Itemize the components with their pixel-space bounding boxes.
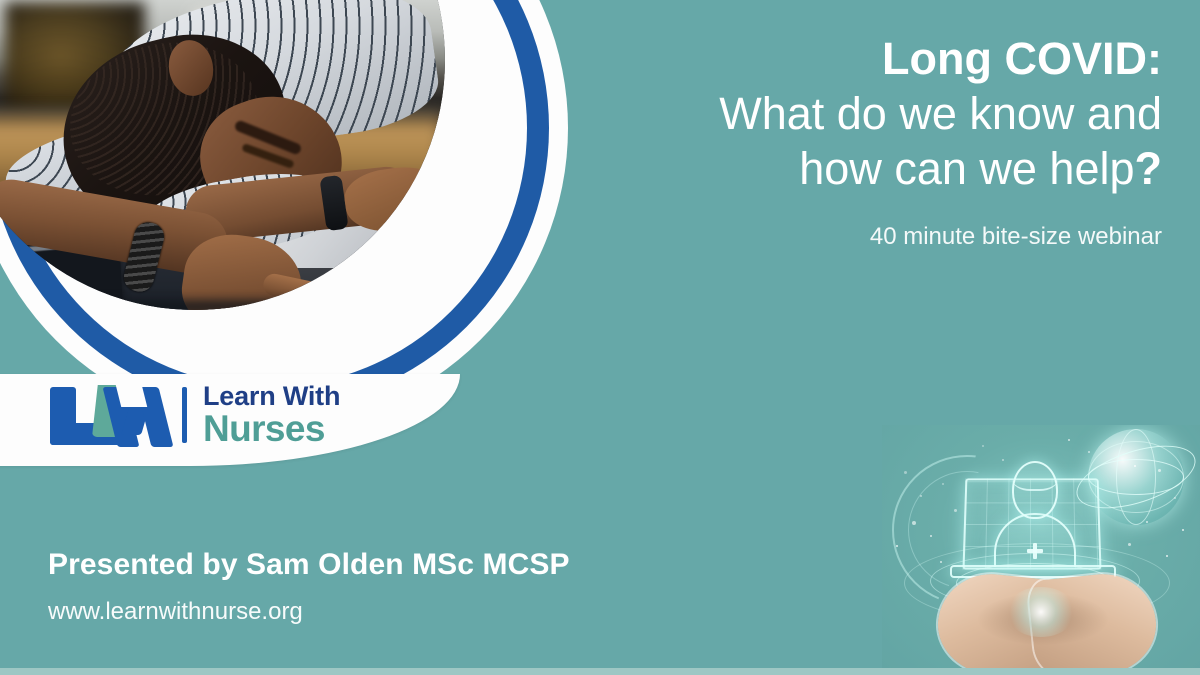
digital-health-graphic	[882, 425, 1200, 669]
sparkle-particle	[1166, 555, 1168, 557]
sparkle-particle	[1182, 529, 1184, 531]
presenter-website-url[interactable]: www.learnwithnurse.org	[48, 598, 570, 626]
monogram-notch	[115, 381, 147, 407]
sparkle-particle	[954, 509, 957, 512]
sparkle-particle	[982, 445, 984, 447]
sparkle-particle	[904, 471, 907, 474]
logo-line-learn-with: Learn With	[203, 384, 340, 410]
sparkle-particle	[1002, 459, 1004, 461]
title-line-2: What do we know and	[522, 87, 1162, 142]
sparkle-particle	[930, 535, 932, 537]
sparkle-particle	[1068, 439, 1070, 441]
avatar-hair	[1012, 461, 1058, 491]
title-line-3-text: how can we help	[799, 143, 1134, 194]
hero-photo-image	[0, 0, 445, 310]
sparkle-particle	[1128, 543, 1131, 546]
sparkle-particle	[1146, 521, 1148, 523]
sparkle-particle	[1158, 469, 1161, 472]
presenter-block: Presented by Sam Olden MSc MCSP www.lear…	[48, 548, 570, 626]
sparkle-particle	[896, 545, 898, 547]
sparkle-particle	[1174, 497, 1176, 499]
subtitle: 40 minute bite-size webinar	[522, 223, 1162, 251]
sparkle-particle	[1134, 465, 1136, 467]
title-question-mark: ?	[1135, 143, 1163, 194]
title-line-1: Long COVID:	[522, 32, 1162, 87]
lw-monogram-icon	[48, 383, 176, 447]
brand-logo[interactable]: Learn With Nurses	[48, 382, 340, 448]
bottom-strip	[0, 668, 1200, 675]
glow-core	[1006, 587, 1076, 637]
hero-photo	[0, 0, 445, 310]
sparkle-particle	[920, 495, 922, 497]
title-slide: Learn With Nurses Long COVID: What do we…	[0, 0, 1200, 675]
logo-wordmark: Learn With Nurses	[203, 384, 340, 446]
logo-divider	[182, 387, 187, 443]
sparkle-particle	[912, 521, 916, 525]
photo-desk-shadow	[0, 300, 445, 310]
sparkle-particle	[1088, 451, 1090, 453]
sparkle-particle	[1114, 575, 1116, 577]
title-block: Long COVID: What do we know and how can …	[522, 32, 1162, 251]
logo-line-nurses: Nurses	[203, 411, 340, 447]
sparkle-particle	[940, 561, 942, 563]
sparkle-particle	[942, 483, 944, 485]
title-line-3: how can we help?	[522, 142, 1162, 197]
presenter-name: Presented by Sam Olden MSc MCSP	[48, 548, 570, 582]
